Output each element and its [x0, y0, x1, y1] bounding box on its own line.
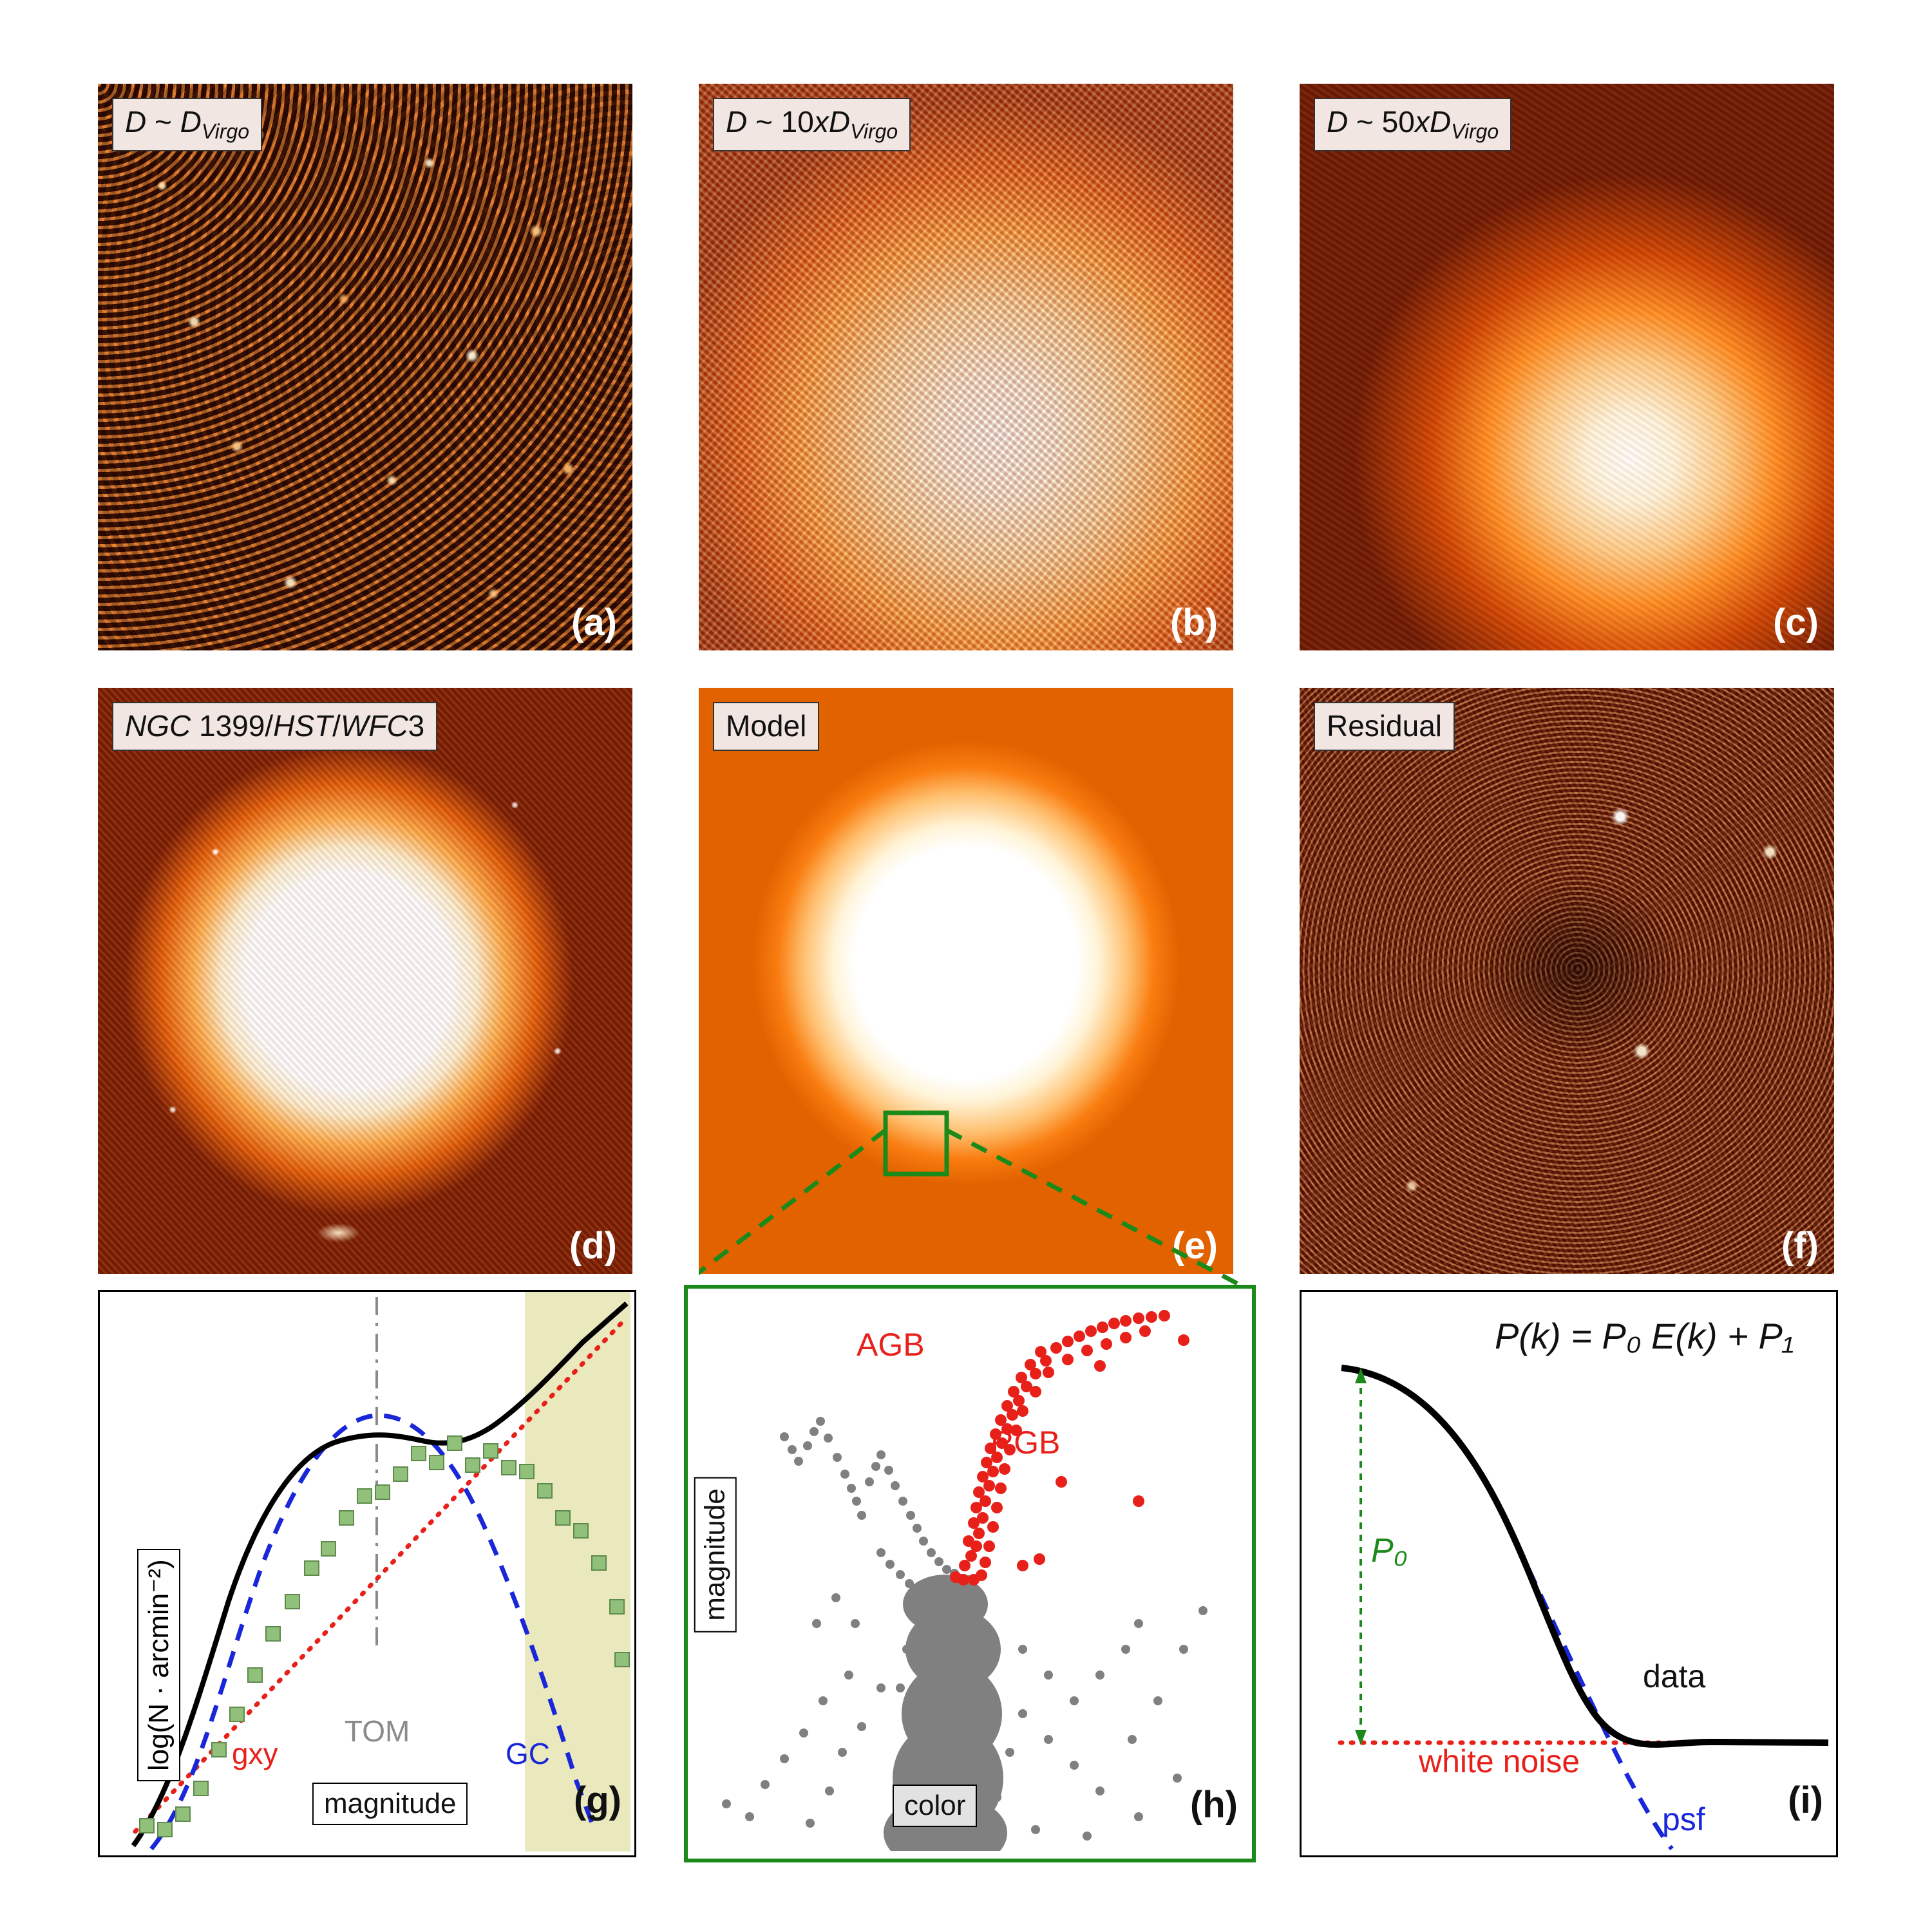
- panel-d-label: NGC 1399/HST/WFC3: [112, 702, 437, 751]
- panel-i-corner: (i): [1788, 1779, 1823, 1822]
- panel-g-gxy-label: gxy: [232, 1736, 278, 1771]
- zoom-connector-lines: [699, 1108, 1298, 1288]
- panel-i-white-noise-label: white noise: [1419, 1743, 1580, 1780]
- panel-h-xlabel: color: [893, 1785, 977, 1827]
- panel-g-tom-label: TOM: [345, 1714, 410, 1748]
- panel-i-equation: P(k) = P₀ E(k) + P₁: [1495, 1315, 1794, 1357]
- panel-f: Residual (f): [1300, 688, 1834, 1274]
- panel-b-label: D ~ 10xDVirgo: [713, 98, 911, 151]
- panel-b-corner: (b): [1170, 601, 1218, 644]
- panel-h-ylabel: magnitude: [694, 1477, 737, 1632]
- panel-a-image: [98, 84, 632, 650]
- figure-grid: D ~ DVirgo (a) D ~ 10xDVirgo (b) D ~ 50x…: [0, 0, 1932, 1932]
- panel-i-p0-label: P₀: [1371, 1531, 1408, 1570]
- panel-a-label: D ~ DVirgo: [112, 98, 262, 151]
- panel-d: NGC 1399/HST/WFC3 (d): [98, 688, 632, 1274]
- panel-h-rgb-label: RGB: [990, 1424, 1060, 1461]
- panel-h-corner: (h): [1190, 1783, 1238, 1826]
- panel-h-plot: [688, 1289, 1244, 1851]
- panel-i-psf-label: psf: [1662, 1801, 1705, 1838]
- panel-i-data-label: data: [1643, 1658, 1705, 1695]
- panel-b-image: [699, 84, 1233, 650]
- panel-g-gc-label: GC: [506, 1736, 550, 1771]
- panel-c-label: D ~ 50xDVirgo: [1314, 98, 1511, 151]
- panel-c-corner: (c): [1773, 601, 1819, 644]
- panel-i: P(k) = P₀ E(k) + P₁ P₀ data white noise …: [1300, 1290, 1838, 1857]
- panel-g-ylabel: log(N · arcmin⁻²): [137, 1549, 180, 1781]
- panel-g-corner: (g): [574, 1779, 621, 1822]
- panel-g-xlabel: magnitude: [312, 1783, 468, 1825]
- panel-d-corner: (d): [569, 1224, 617, 1267]
- panel-g: log(N · arcmin⁻²) gxy TOM GC magnitude (…: [98, 1290, 636, 1857]
- panel-h-agb-label: AGB: [857, 1326, 925, 1363]
- panel-h: magnitude AGB RGB color (h): [684, 1285, 1256, 1862]
- panel-f-corner: (f): [1781, 1224, 1819, 1267]
- panel-f-image: [1300, 688, 1834, 1274]
- panel-a: D ~ DVirgo (a): [98, 84, 632, 650]
- panel-d-image: [98, 688, 632, 1274]
- panel-b: D ~ 10xDVirgo (b): [699, 84, 1233, 650]
- panel-c: D ~ 50xDVirgo (c): [1300, 84, 1834, 650]
- panel-f-label: Residual: [1314, 702, 1455, 751]
- panel-a-corner: (a): [571, 601, 617, 644]
- panel-c-image: [1300, 84, 1834, 650]
